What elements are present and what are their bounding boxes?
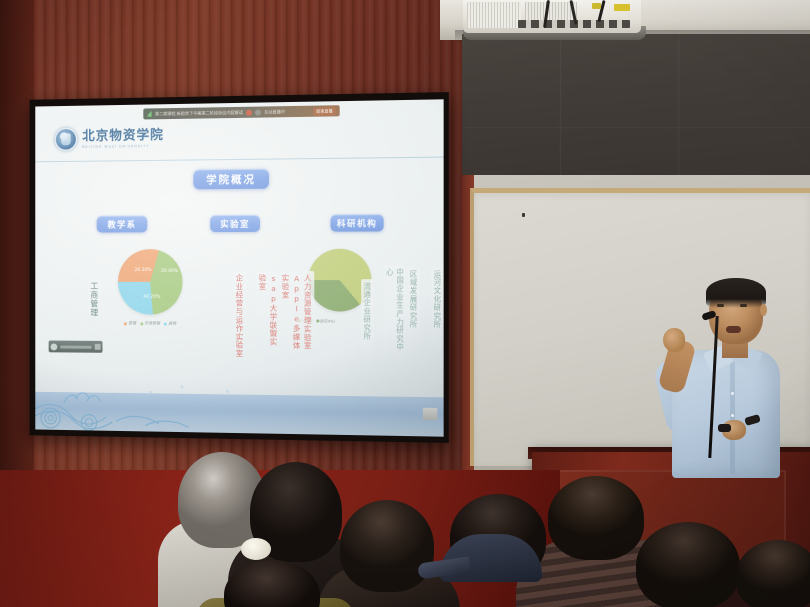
projector-yellow-connector: [592, 3, 601, 9]
speaker-eye: [717, 304, 724, 307]
livestream-title: 第二期课程 新趋势下中美第二阶段协议内容解读: [155, 109, 243, 116]
audience-head: [736, 540, 810, 607]
speaker-icon[interactable]: [255, 109, 261, 115]
sparkle-dot: [226, 390, 229, 393]
legend-label: 市场营销: [144, 320, 160, 326]
whiteboard-speck: [522, 213, 525, 217]
slide-corner-marker: [423, 408, 438, 420]
department-label-business-administration: 工商管理: [88, 279, 101, 348]
institute-label-productivity-center: 中国企业生产力研究中心: [384, 265, 407, 363]
shirt-button: [731, 392, 734, 395]
projected-slide: 第二期课程 新趋势下中美第二阶段协议内容解读 互动直播中 结束直播 北京物资学院…: [35, 99, 443, 436]
pie-slice-label: 26.30%: [135, 268, 152, 273]
hair-scrunchie: [241, 538, 271, 560]
slide-title: 学院概况: [193, 169, 269, 190]
legend-swatch: [140, 322, 143, 325]
signal-bars-icon: [147, 111, 152, 117]
speaker-raised-hand: [663, 328, 685, 352]
sparkle-dot: [181, 385, 184, 388]
speaker-mouth: [726, 326, 741, 333]
projection-screen-frame: 第二期课程 新趋势下中美第二阶段协议内容解读 互动直播中 结束直播 北京物资学院…: [30, 92, 449, 443]
university-logo: 北京物资学院 BEIJING WUZI UNIVERSITY: [54, 126, 163, 151]
livestream-status-bar[interactable]: 第二期课程 新趋势下中美第二阶段协议内容解读 互动直播中 结束直播: [143, 105, 339, 119]
legend-swatch: [164, 322, 167, 325]
speaker-shirt-placket: [730, 362, 735, 474]
audience-head: [340, 500, 434, 592]
pie-chart-departments: [118, 249, 183, 315]
legend-swatch: [124, 322, 127, 325]
lab-label-apple-multimedia: Apple多媒体实验室: [279, 271, 303, 356]
end-livestream-button[interactable]: 结束直播: [313, 107, 335, 115]
university-seal-icon: [54, 127, 77, 151]
upper-dark-wall-panels: [462, 34, 810, 184]
progress-track[interactable]: [60, 345, 92, 348]
record-dot-icon[interactable]: [246, 109, 252, 115]
header-divider: [35, 157, 443, 163]
slide-player-bar[interactable]: [49, 341, 103, 353]
lab-label-sap-university-alliance: sap大学联盟实验室: [256, 271, 280, 355]
sparkle-dot: [149, 391, 152, 394]
audience-head: [636, 522, 740, 607]
pie-slice-label: 29.40%: [161, 269, 178, 274]
pie-chart-legend: 管理 市场营销 其他: [124, 320, 176, 326]
slide-footer-band: [35, 373, 443, 437]
category-chip-research-institutes: 科研机构: [331, 214, 384, 231]
play-icon[interactable]: [51, 343, 58, 350]
livestream-status-text: 互动直播中: [264, 109, 285, 115]
speaker-ear: [760, 304, 767, 316]
projector-yellow-connector: [614, 4, 630, 11]
lecture-hall-photo: 第二期课程 新趋势下中美第二阶段协议内容解读 互动直播中 结束直播 北京物资学院…: [0, 0, 810, 607]
legend-label: 研究中心: [320, 319, 335, 323]
stop-square-icon[interactable]: [95, 344, 101, 350]
lab-label-enterprise-operations: 企业经营与运作实验室: [233, 271, 246, 363]
microphone-base-clip: [718, 424, 731, 432]
pie-slice-label: 44.20%: [143, 295, 160, 300]
category-chip-teaching-departments: 教学系: [97, 215, 148, 232]
institute-label-regional-development: 区域发展研究所: [407, 267, 419, 351]
lab-label-human-resources: 人力资源管理实验室: [301, 271, 314, 356]
category-chip-laboratories: 实验室: [210, 215, 260, 232]
shirt-button: [731, 414, 734, 417]
legend-label: 其他: [168, 321, 176, 327]
legend-label: 管理: [128, 320, 136, 326]
speaker-hair: [706, 278, 766, 308]
university-name-en: BEIJING WUZI UNIVERSITY: [82, 143, 164, 148]
speaker-eye: [740, 304, 747, 307]
university-name-cn: 北京物资学院: [82, 129, 164, 143]
institute-label-canal-culture: 运河文化研究所: [431, 267, 443, 351]
wave-decoration-icon: [35, 375, 204, 433]
institute-label-distribution-enterprise: 流通企业研究所: [361, 279, 373, 362]
audience-head: [548, 476, 644, 560]
